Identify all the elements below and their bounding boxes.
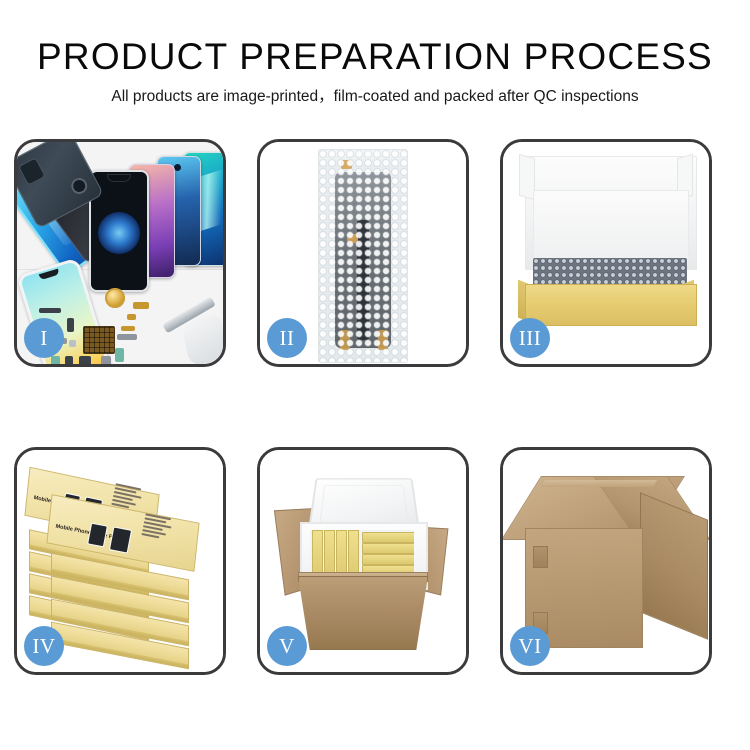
process-panel-5[interactable]: V	[257, 447, 469, 675]
process-panel-4[interactable]: Mobile Phone Spare Parts Mobile Phone Sp…	[14, 447, 226, 675]
process-panel-grid: I II	[14, 139, 736, 675]
small-part-icon	[65, 356, 73, 364]
yellow-box-flat	[362, 543, 414, 554]
bubble-texture	[319, 150, 407, 362]
foam-sheet-icon	[533, 190, 689, 266]
small-part-icon	[117, 334, 137, 340]
process-panel-6[interactable]: VI	[500, 447, 712, 675]
small-part-icon	[69, 340, 76, 347]
step-badge-1: I	[24, 318, 64, 358]
carton-body-icon	[298, 576, 428, 650]
small-part-icon	[101, 356, 111, 364]
small-part-icon	[67, 318, 74, 332]
process-panel-2[interactable]: II	[257, 139, 469, 367]
bubble-wrap-bag-icon	[318, 149, 408, 363]
page-header: PRODUCT PREPARATION PROCESS All products…	[0, 0, 750, 105]
page-subtitle: All products are image-printed，film-coat…	[0, 89, 750, 105]
bubble-wrapped-contents-icon	[533, 258, 687, 286]
small-part-icon	[115, 348, 124, 362]
step-badge-4: IV	[24, 626, 64, 666]
page-title: PRODUCT PREPARATION PROCESS	[0, 38, 750, 75]
small-part-icon	[127, 314, 136, 320]
carton-tape-seam-icon	[541, 480, 657, 487]
small-part-icon	[79, 356, 91, 364]
small-part-icon	[39, 308, 61, 313]
process-panel-3[interactable]: III	[500, 139, 712, 367]
yellow-box-flat	[362, 532, 414, 543]
process-panel-1[interactable]: I	[14, 139, 226, 367]
carton-flap-tab-icon	[533, 546, 548, 568]
gold-coil-part-icon	[105, 288, 125, 308]
step-badge-2: II	[267, 318, 307, 358]
step-badge-3: III	[510, 318, 550, 358]
yellow-box-flat	[362, 554, 414, 565]
small-part-icon	[51, 356, 60, 364]
yellow-box-front-icon	[525, 284, 697, 326]
step-badge-5: V	[267, 626, 307, 666]
gold-chip-part-icon	[83, 326, 115, 354]
small-part-icon	[121, 326, 135, 331]
small-part-icon	[133, 302, 149, 309]
step-badge-6: VI	[510, 626, 550, 666]
